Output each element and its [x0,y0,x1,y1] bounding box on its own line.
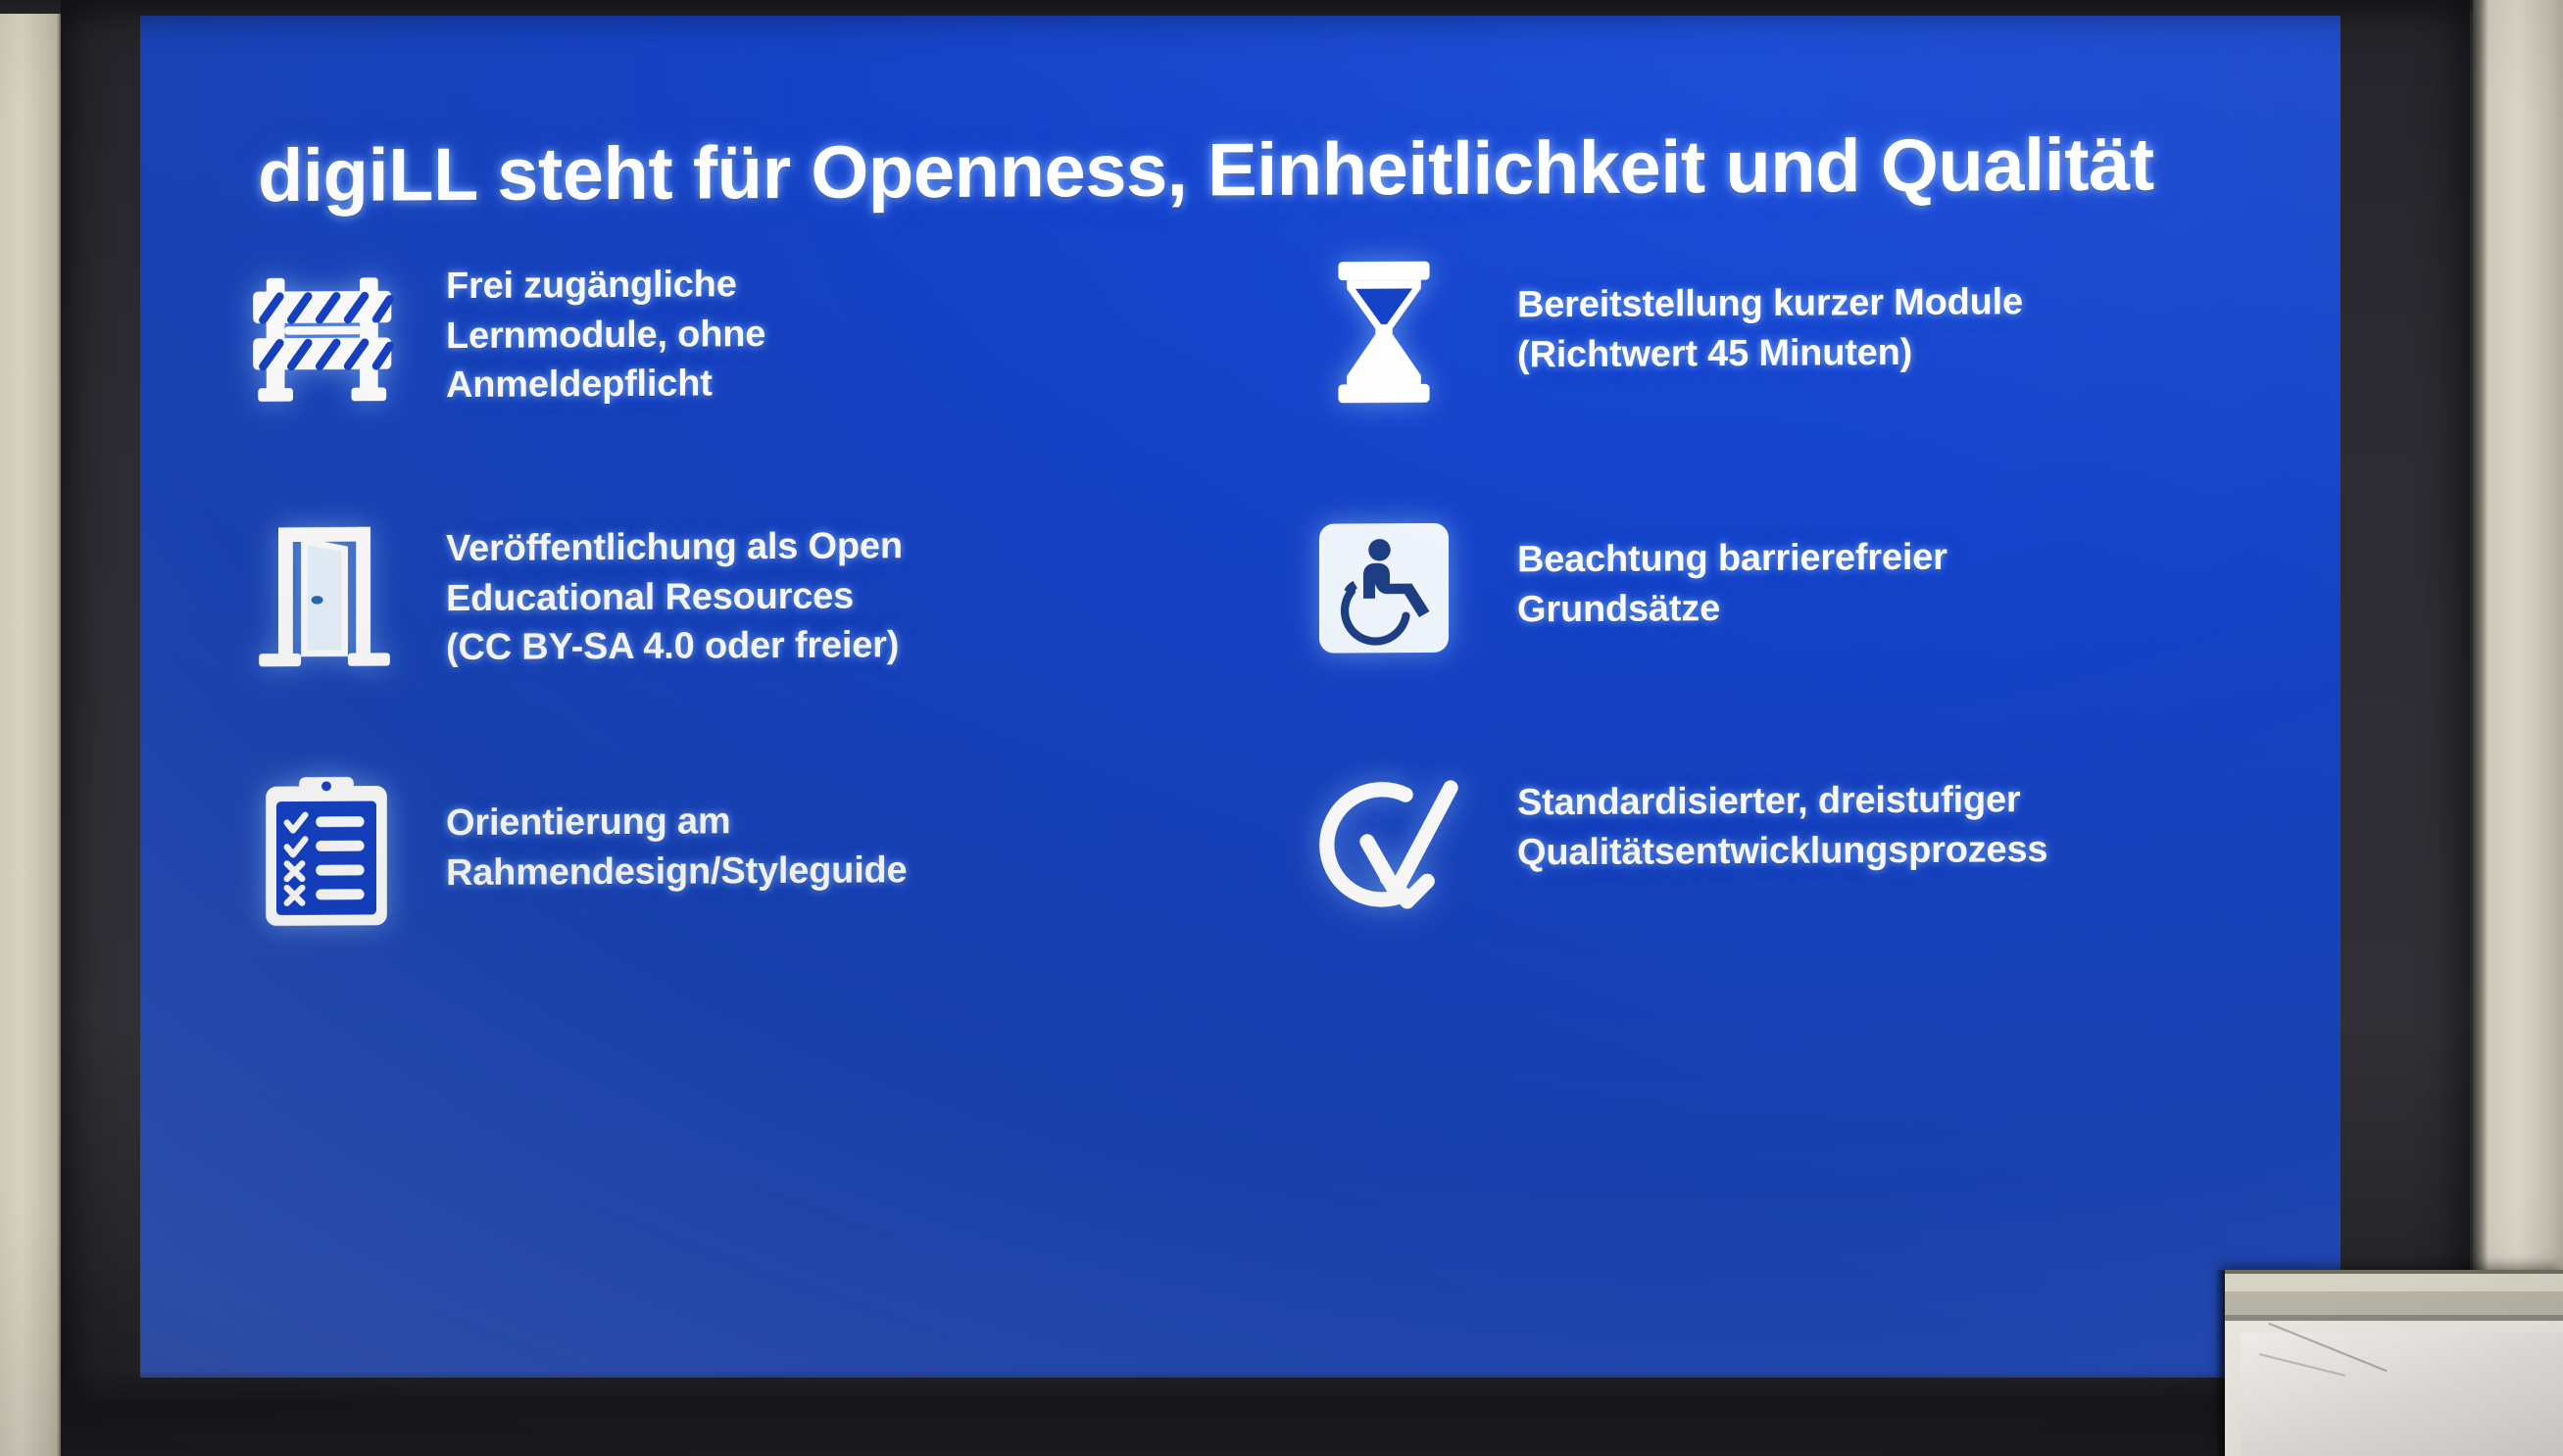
list-item: Orientierung am Rahmendesign/Styleguide [228,752,1213,1015]
list-item-line: Veröffentlichung als Open [446,521,903,573]
flipchart-paper [2241,1333,2563,1456]
feature-grid: Frei zugängliche Lernmodule, ohne Anmeld… [228,233,2257,1016]
list-item-line: (Richtwert 45 Minuten) [1517,327,2023,380]
list-item-line: (CC BY-SA 4.0 oder freier) [446,620,903,672]
flipchart-board [2225,1270,2563,1456]
list-item-line: Frei zugängliche [446,260,765,312]
open-door-icon [228,501,424,688]
list-item-text: Veröffentlichung als Open Educational Re… [446,498,903,672]
list-item: Frei zugängliche Lernmodule, ohne Anmeld… [228,239,1213,502]
list-item: Veröffentlichung als Open Educational Re… [228,496,1213,758]
barricade-icon [228,244,424,431]
list-item-text: Bereitstellung kurzer Module (Richtwert … [1517,234,2023,379]
list-item: Beachtung barrierefreier Grundsätze [1272,490,2257,752]
display-bottom-shadow [61,1370,2470,1456]
presentation-slide: digiLL steht für Openness, Einheitlichke… [140,16,2341,1378]
list-item-line: Grundsätze [1517,582,1947,634]
list-item-line: Rahmendesign/Styleguide [446,846,908,898]
list-item-text: Frei zugängliche Lernmodule, ohne Anmeld… [446,242,765,411]
list-item-text: Beachtung barrierefreier Grundsätze [1517,492,1947,635]
room-background: digiLL steht für Openness, Einheitlichke… [0,0,2563,1456]
hourglass-icon [1286,238,1482,425]
right-wall-column [2473,0,2563,1456]
list-item: Bereitstellung kurzer Module (Richtwert … [1272,233,2257,496]
flipchart-shadow [2215,1270,2225,1456]
list-item-text: Orientierung am Rahmendesign/Styleguide [446,754,908,898]
list-item-line: Educational Resources [446,571,903,623]
display-bezel: digiLL steht für Openness, Einheitlichke… [61,0,2470,1456]
list-item-line: Standardisierter, dreistufiger [1517,775,2047,828]
list-item-line: Anmeldepflicht [446,359,765,411]
list-item-line: Lernmodule, ohne [446,310,765,362]
list-item-line: Beachtung barrierefreier [1517,533,1947,585]
wheelchair-accessibility-icon [1286,495,1482,682]
list-item: Standardisierter, dreistufiger Qualitäts… [1272,747,2257,1009]
clipboard-checklist-icon [228,757,424,945]
refresh-check-icon [1286,752,1482,939]
list-item-line: Bereitstellung kurzer Module [1517,277,2023,330]
list-item-line: Qualitätsentwicklungsprozess [1517,825,2047,878]
list-item-text: Standardisierter, dreistufiger Qualitäts… [1517,748,2047,877]
list-item-line: Orientierung am [446,796,908,848]
page-title: digiLL steht für Openness, Einheitlichke… [258,125,2218,215]
